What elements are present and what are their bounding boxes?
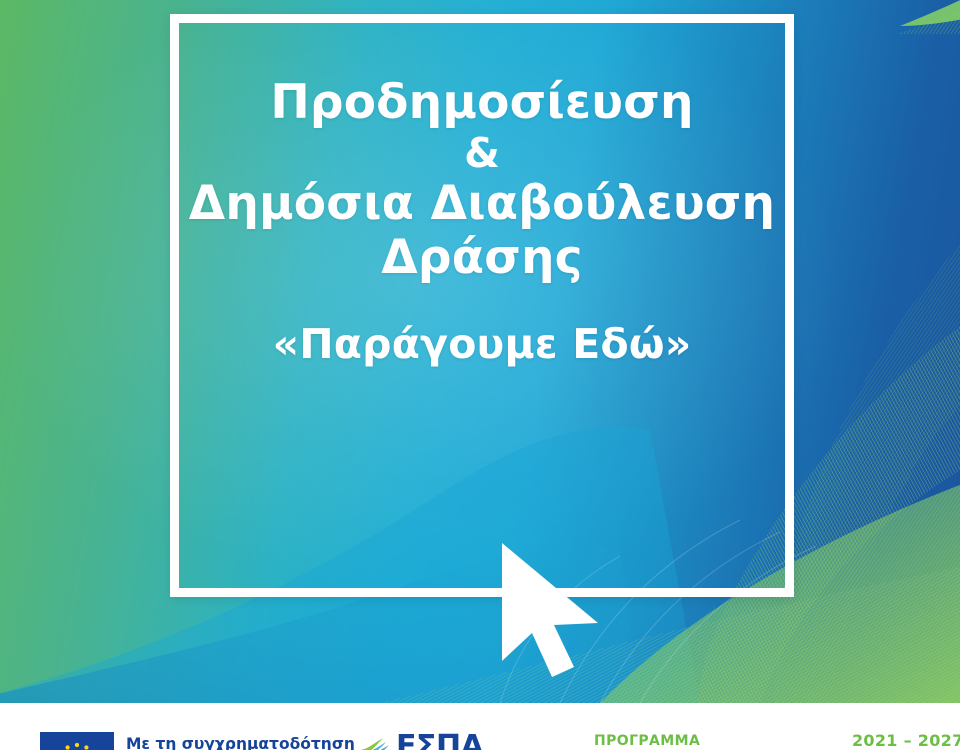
programme-label: ΠΡΟΓΡΑΜΜΑ bbox=[594, 733, 700, 749]
espa-wave-logo-icon bbox=[358, 734, 392, 750]
title-line-4: Δράσης bbox=[170, 231, 794, 284]
eu-cofunding-block: Με τη συγχρηματοδότηση bbox=[40, 732, 355, 750]
title-block: Προδημοσίευση & Δημόσια Διαβούλευση Δράσ… bbox=[170, 76, 794, 368]
title-line-2: & bbox=[170, 129, 794, 177]
title-line-1: Προδημοσίευση bbox=[170, 76, 794, 129]
slide-canvas: Προδημοσίευση & Δημόσια Διαβούλευση Δράσ… bbox=[0, 0, 960, 750]
footer-bar: Με τη συγχρηματοδότηση ΕΣΠΑ bbox=[0, 703, 960, 750]
eu-cofunding-text: Με τη συγχρηματοδότηση bbox=[126, 732, 355, 750]
espa-logo: ΕΣΠΑ bbox=[358, 732, 483, 750]
mouse-cursor-arrow-icon bbox=[494, 539, 606, 679]
action-name-subtitle: «Παράγουμε Εδώ» bbox=[170, 320, 794, 368]
programme-years: 2021 – 2027 bbox=[852, 731, 960, 750]
title-line-3: Δημόσια Διαβούλευση bbox=[170, 177, 794, 230]
background-gradient: Προδημοσίευση & Δημόσια Διαβούλευση Δράσ… bbox=[0, 0, 960, 703]
european-union-flag-icon bbox=[40, 732, 114, 750]
espa-wordmark: ΕΣΠΑ bbox=[396, 732, 483, 750]
